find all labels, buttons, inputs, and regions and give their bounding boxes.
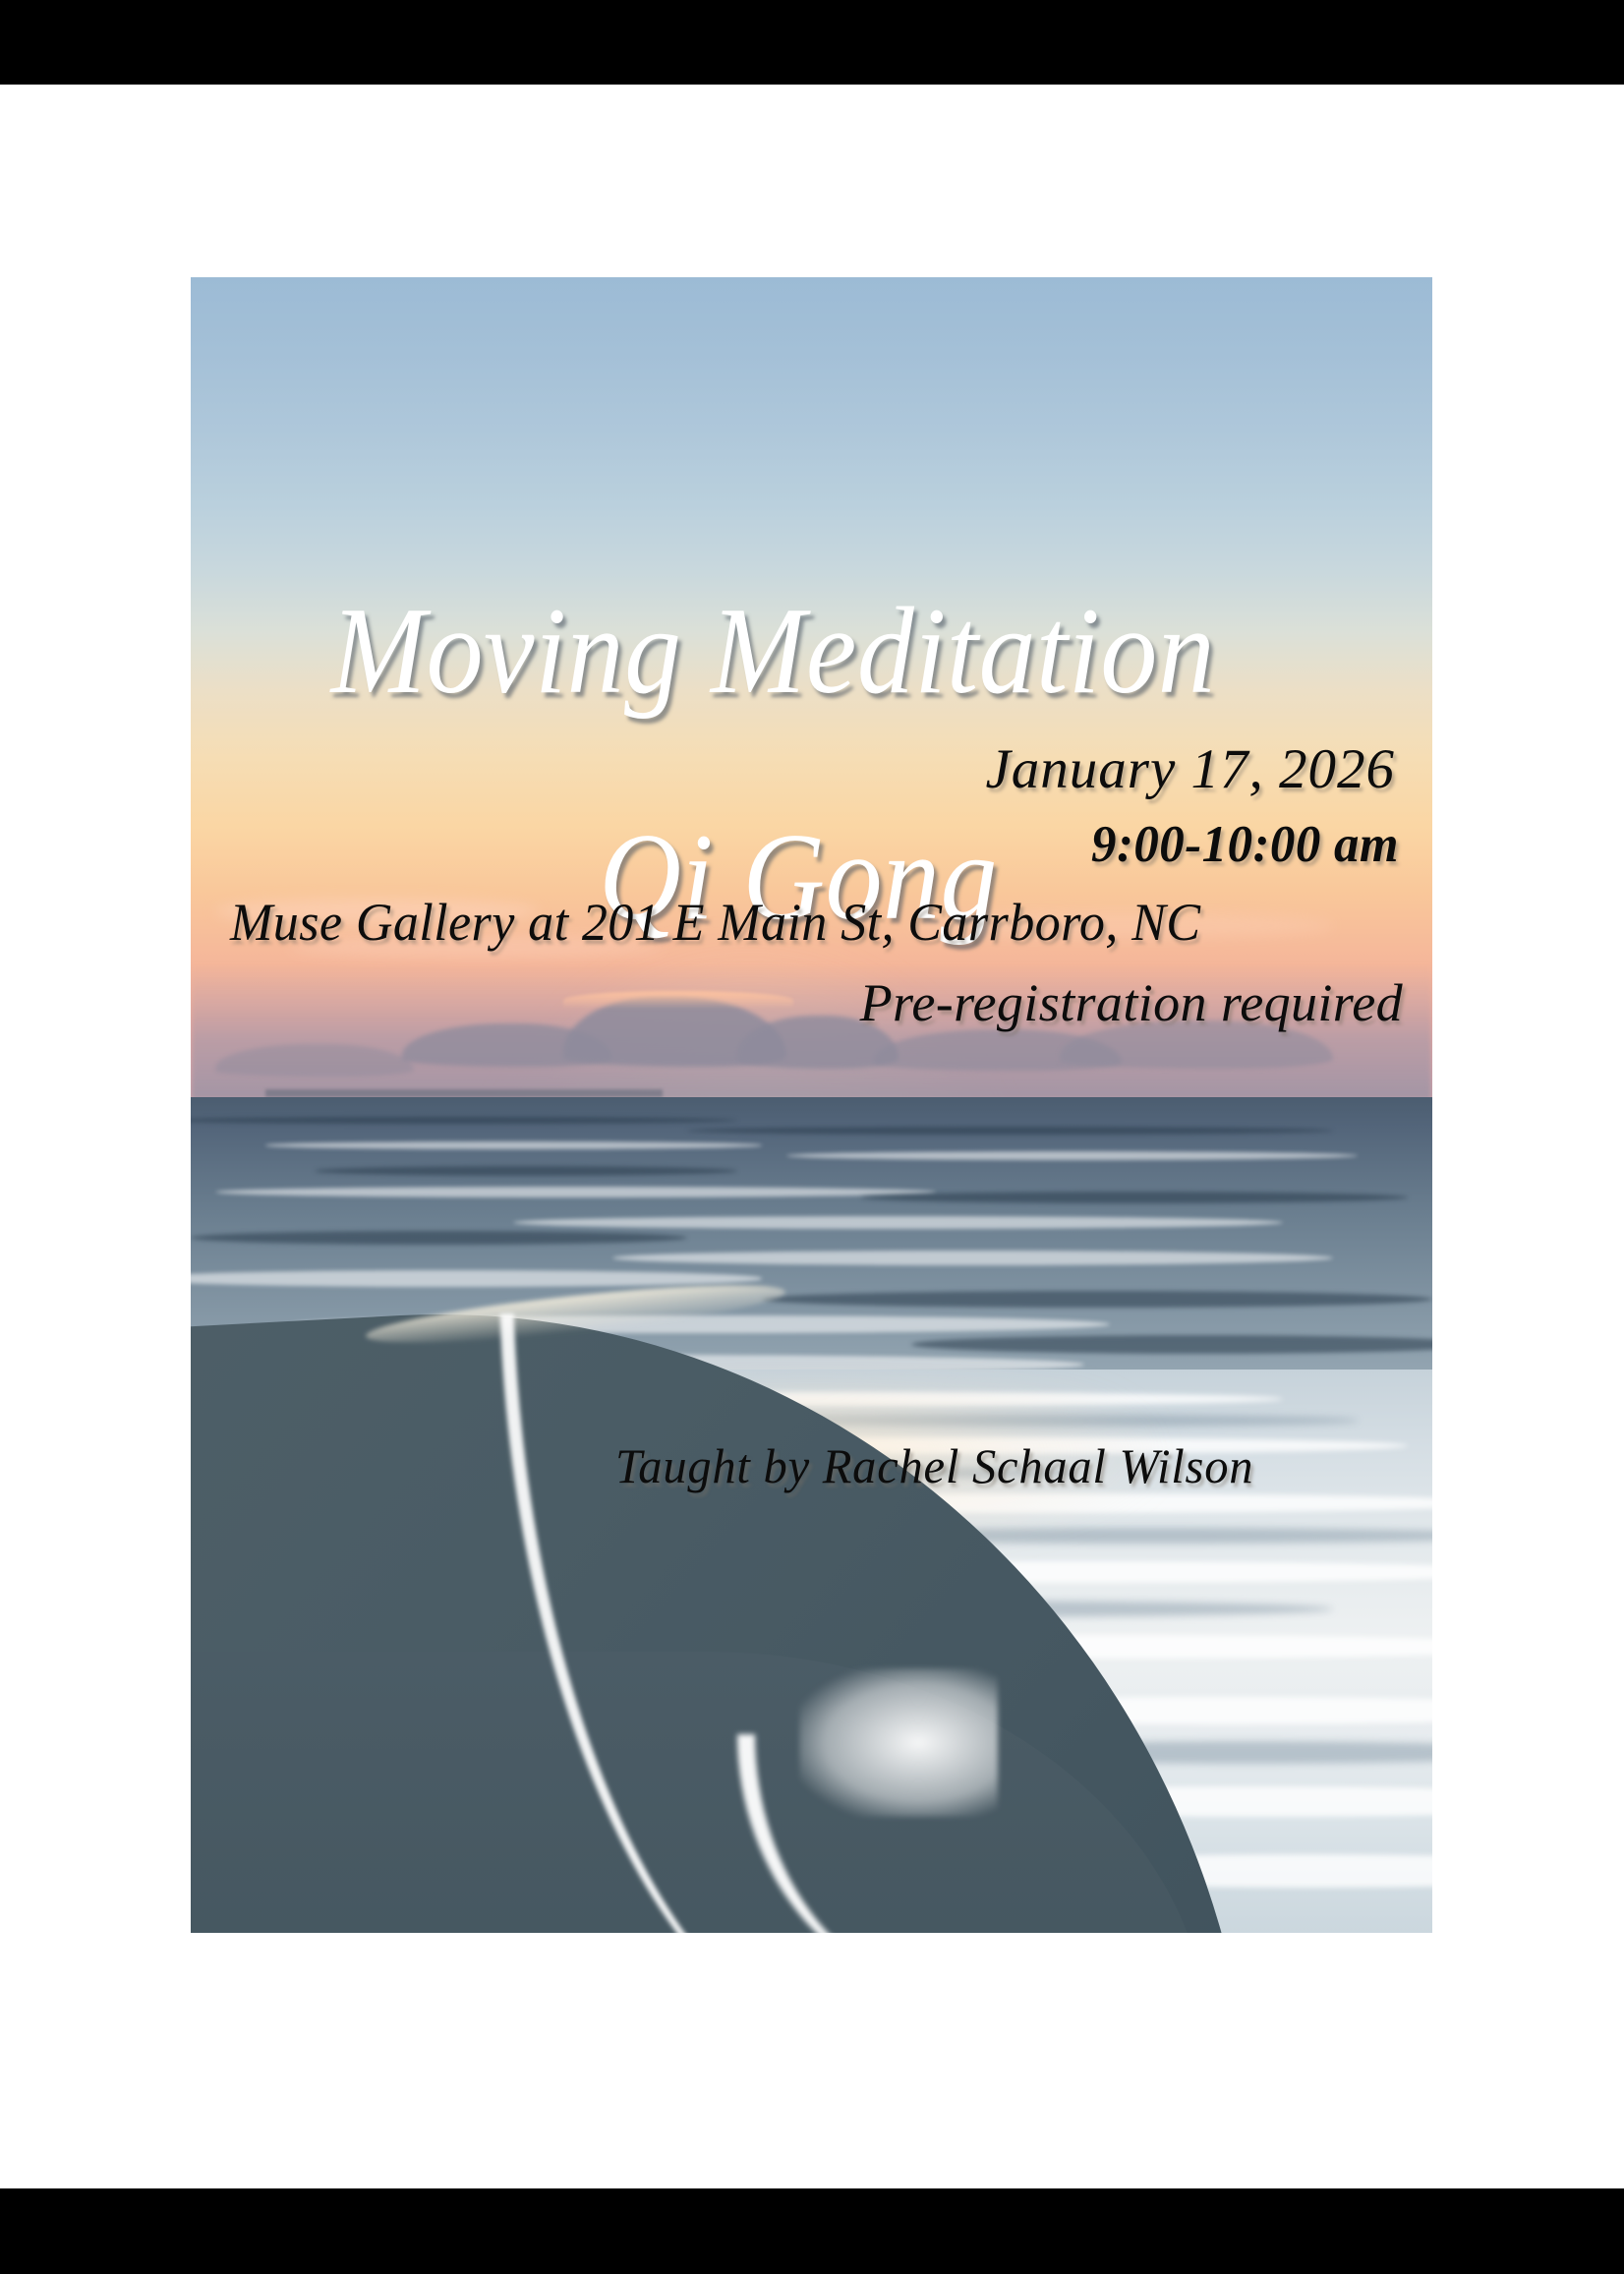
poster-title-line-1: Moving Meditation	[258, 590, 1289, 714]
registration-note: Pre-registration required	[860, 972, 1403, 1033]
event-date: January 17, 2026	[985, 737, 1395, 801]
event-time: 9:00-10:00 am	[1091, 815, 1399, 874]
scan-border-top	[0, 0, 1624, 85]
event-venue: Muse Gallery at 201 E Main St, Carrboro,…	[230, 892, 1200, 953]
instructor-credit: Taught by Rachel Schaal Wilson	[615, 1437, 1253, 1494]
document-page: Moving Meditation Qi Gong January 17, 20…	[0, 0, 1624, 2274]
poster-text-layer: Moving Meditation Qi Gong January 17, 20…	[191, 277, 1432, 1933]
scan-border-bottom	[0, 2188, 1624, 2274]
event-poster: Moving Meditation Qi Gong January 17, 20…	[191, 277, 1432, 1933]
